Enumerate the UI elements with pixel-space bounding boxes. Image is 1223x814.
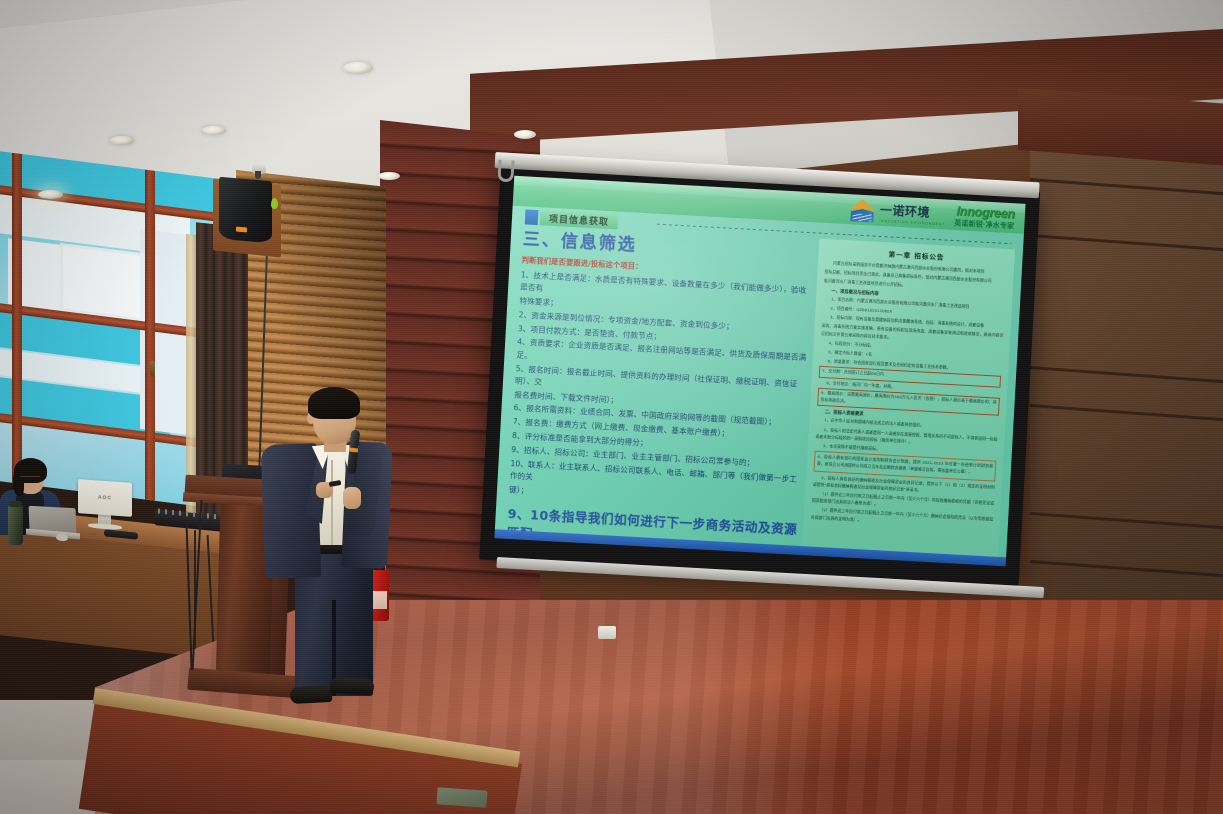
mountain-logo-icon — [849, 197, 875, 223]
ceiling-downlight — [514, 130, 536, 139]
microphone-ring — [349, 448, 358, 453]
slide-body: 三、信息筛选 判断我们是否要跟进/投标这个项目： 1、技术上是否满足：水质是否有… — [495, 224, 1023, 557]
thermos-flask — [8, 505, 23, 545]
presenter-shirt-placket — [331, 460, 333, 548]
security-camera-icon — [252, 163, 266, 174]
wall-socket[interactable] — [598, 626, 616, 639]
presenter-shoe-right — [330, 677, 375, 695]
technician-hair-side — [13, 470, 24, 496]
acoustic-panel-wall — [1030, 108, 1223, 643]
ceiling-downlight — [38, 190, 63, 199]
speaker-indicator-icon — [271, 198, 278, 209]
floor-access-plate — [436, 787, 487, 807]
technician-glasses-icon — [20, 476, 40, 481]
screen-mount-hook — [497, 160, 514, 183]
presenter-shoe-left — [290, 685, 333, 704]
computer-mouse[interactable] — [56, 533, 68, 541]
cup — [88, 533, 96, 539]
slide-tab-marker — [525, 209, 539, 225]
ceiling-downlight — [343, 62, 373, 74]
projection-screen[interactable]: 一诺环境 INNOVATION ENVIRONMENT Innogreen 英诺… — [479, 163, 1040, 589]
ceiling-downlight — [202, 126, 226, 135]
bid-document-panel: 第一章 招标公告 内蒙古招标采购服务平台受额济纳旗内蒙古满河西部水业股份有限公司… — [802, 239, 1015, 567]
presenter-hand-right — [343, 487, 361, 509]
logo-english-sub: INNOVATION ENVIRONMENT — [879, 218, 945, 226]
desktop-monitor[interactable]: AOC — [78, 479, 132, 517]
presentation-slide: 一诺环境 INNOVATION ENVIRONMENT Innogreen 英诺… — [494, 176, 1025, 567]
monitor-brand-label: AOC — [98, 495, 112, 502]
jbl-logo-icon — [236, 227, 247, 233]
conference-room-scene: 一诺环境 INNOVATION ENVIRONMENT Innogreen 英诺… — [0, 0, 1223, 814]
jbl-speaker — [219, 177, 272, 244]
presenter-hair — [308, 387, 360, 419]
ceiling-downlight — [110, 136, 134, 145]
slide-left-column: 三、信息筛选 判断我们是否要跟进/投标这个项目： 1、技术上是否满足：水质是否有… — [506, 224, 815, 557]
logo-chinese-name: 一诺环境 — [880, 202, 931, 219]
ceiling-downlight — [378, 172, 400, 180]
